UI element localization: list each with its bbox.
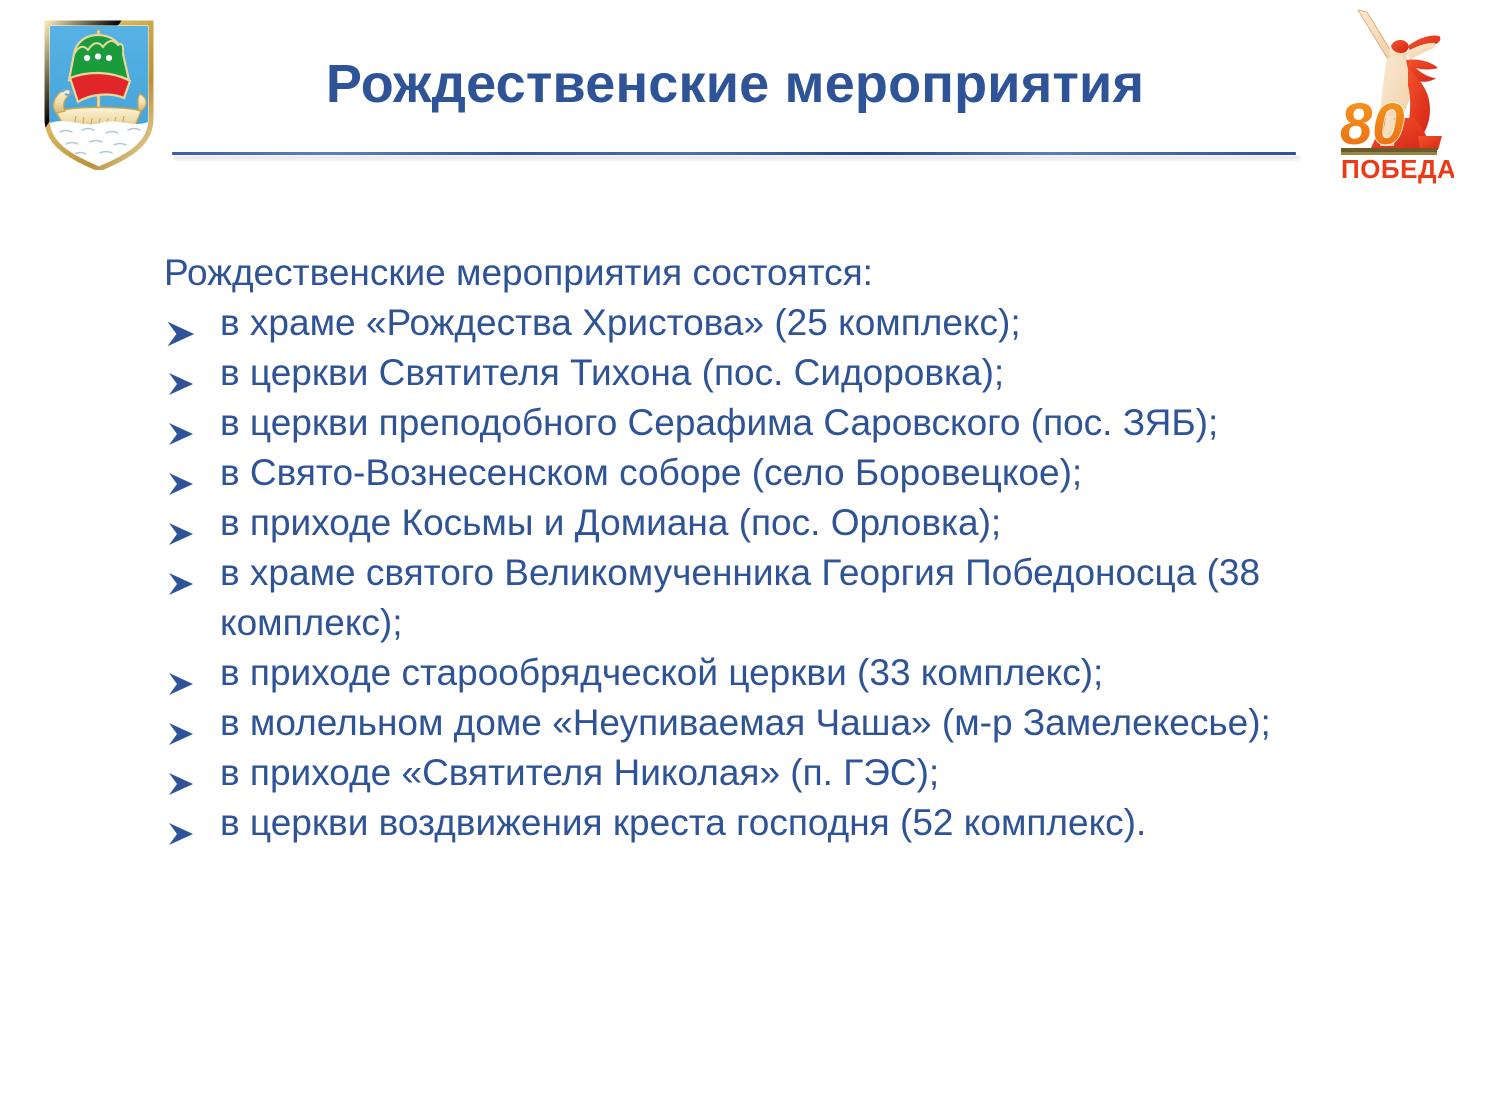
arrow-right-bullet-icon: [166, 810, 196, 836]
arrow-right-bullet-icon: [166, 560, 196, 586]
list-item-label: в приходе старообрядческой церкви (33 ко…: [220, 648, 1392, 698]
list-item-label: в церкви воздвижения креста господня (52…: [220, 798, 1392, 848]
arrow-right-bullet-icon: [166, 760, 196, 786]
list-item: в церкви Святителя Тихона (пос. Сидоровк…: [162, 348, 1392, 398]
venue-list: в храме «Рождества Христова» (25 комплек…: [162, 298, 1392, 848]
list-item-label: в приходе «Святителя Николая» (п. ГЭС);: [220, 748, 1392, 798]
content-lead-text: Рождественские мероприятия состоятся:: [164, 248, 1392, 298]
list-item-label: в храме «Рождества Христова» (25 комплек…: [220, 298, 1392, 348]
title-divider: [172, 152, 1296, 155]
arrow-right-bullet-icon: [166, 710, 196, 736]
list-item: в храме «Рождества Христова» (25 комплек…: [162, 298, 1392, 348]
list-item: в Свято-Вознесенском соборе (село Борове…: [162, 448, 1392, 498]
slide-content: Рождественские мероприятия состоятся: в …: [162, 248, 1392, 848]
arrow-right-bullet-icon: [166, 410, 196, 436]
page-title: Рождественские мероприятия: [170, 56, 1300, 113]
list-item-label: в Свято-Вознесенском соборе (село Борове…: [220, 448, 1392, 498]
list-item: в церкви воздвижения креста господня (52…: [162, 798, 1392, 848]
victory-80-logo-icon: 80 ПОБЕДА!: [1336, 8, 1454, 186]
arrow-right-bullet-icon: [166, 460, 196, 486]
list-item: в церкви преподобного Серафима Саровског…: [162, 398, 1392, 448]
list-item-label: в храме святого Великомученника Георгия …: [220, 548, 1392, 648]
list-item-label: в молельном доме «Неупиваемая Чаша» (м-р…: [220, 698, 1392, 748]
list-item: в приходе старообрядческой церкви (33 ко…: [162, 648, 1392, 698]
victory-caption-text: ПОБЕДА!: [1341, 154, 1454, 184]
list-item: в молельном доме «Неупиваемая Чаша» (м-р…: [162, 698, 1392, 748]
slide-header: Рождественские мероприятия: [0, 0, 1488, 195]
arrow-right-bullet-icon: [166, 310, 196, 336]
list-item: в приходе Косьмы и Домиана (пос. Орловка…: [162, 498, 1392, 548]
list-item-label: в церкви Святителя Тихона (пос. Сидоровк…: [220, 348, 1392, 398]
arrow-right-bullet-icon: [166, 360, 196, 386]
coat-of-arms-icon: [40, 18, 158, 170]
list-item: в храме святого Великомученника Георгия …: [162, 548, 1392, 648]
arrow-right-bullet-icon: [166, 660, 196, 686]
list-item: в приходе «Святителя Николая» (п. ГЭС);: [162, 748, 1392, 798]
victory-number-text: 80: [1340, 92, 1405, 157]
list-item-label: в приходе Косьмы и Домиана (пос. Орловка…: [220, 498, 1392, 548]
title-divider-shadow: [174, 156, 1300, 162]
presentation-slide: Рождественские мероприятия: [0, 0, 1488, 1115]
arrow-right-bullet-icon: [166, 510, 196, 536]
list-item-label: в церкви преподобного Серафима Саровског…: [220, 398, 1392, 448]
